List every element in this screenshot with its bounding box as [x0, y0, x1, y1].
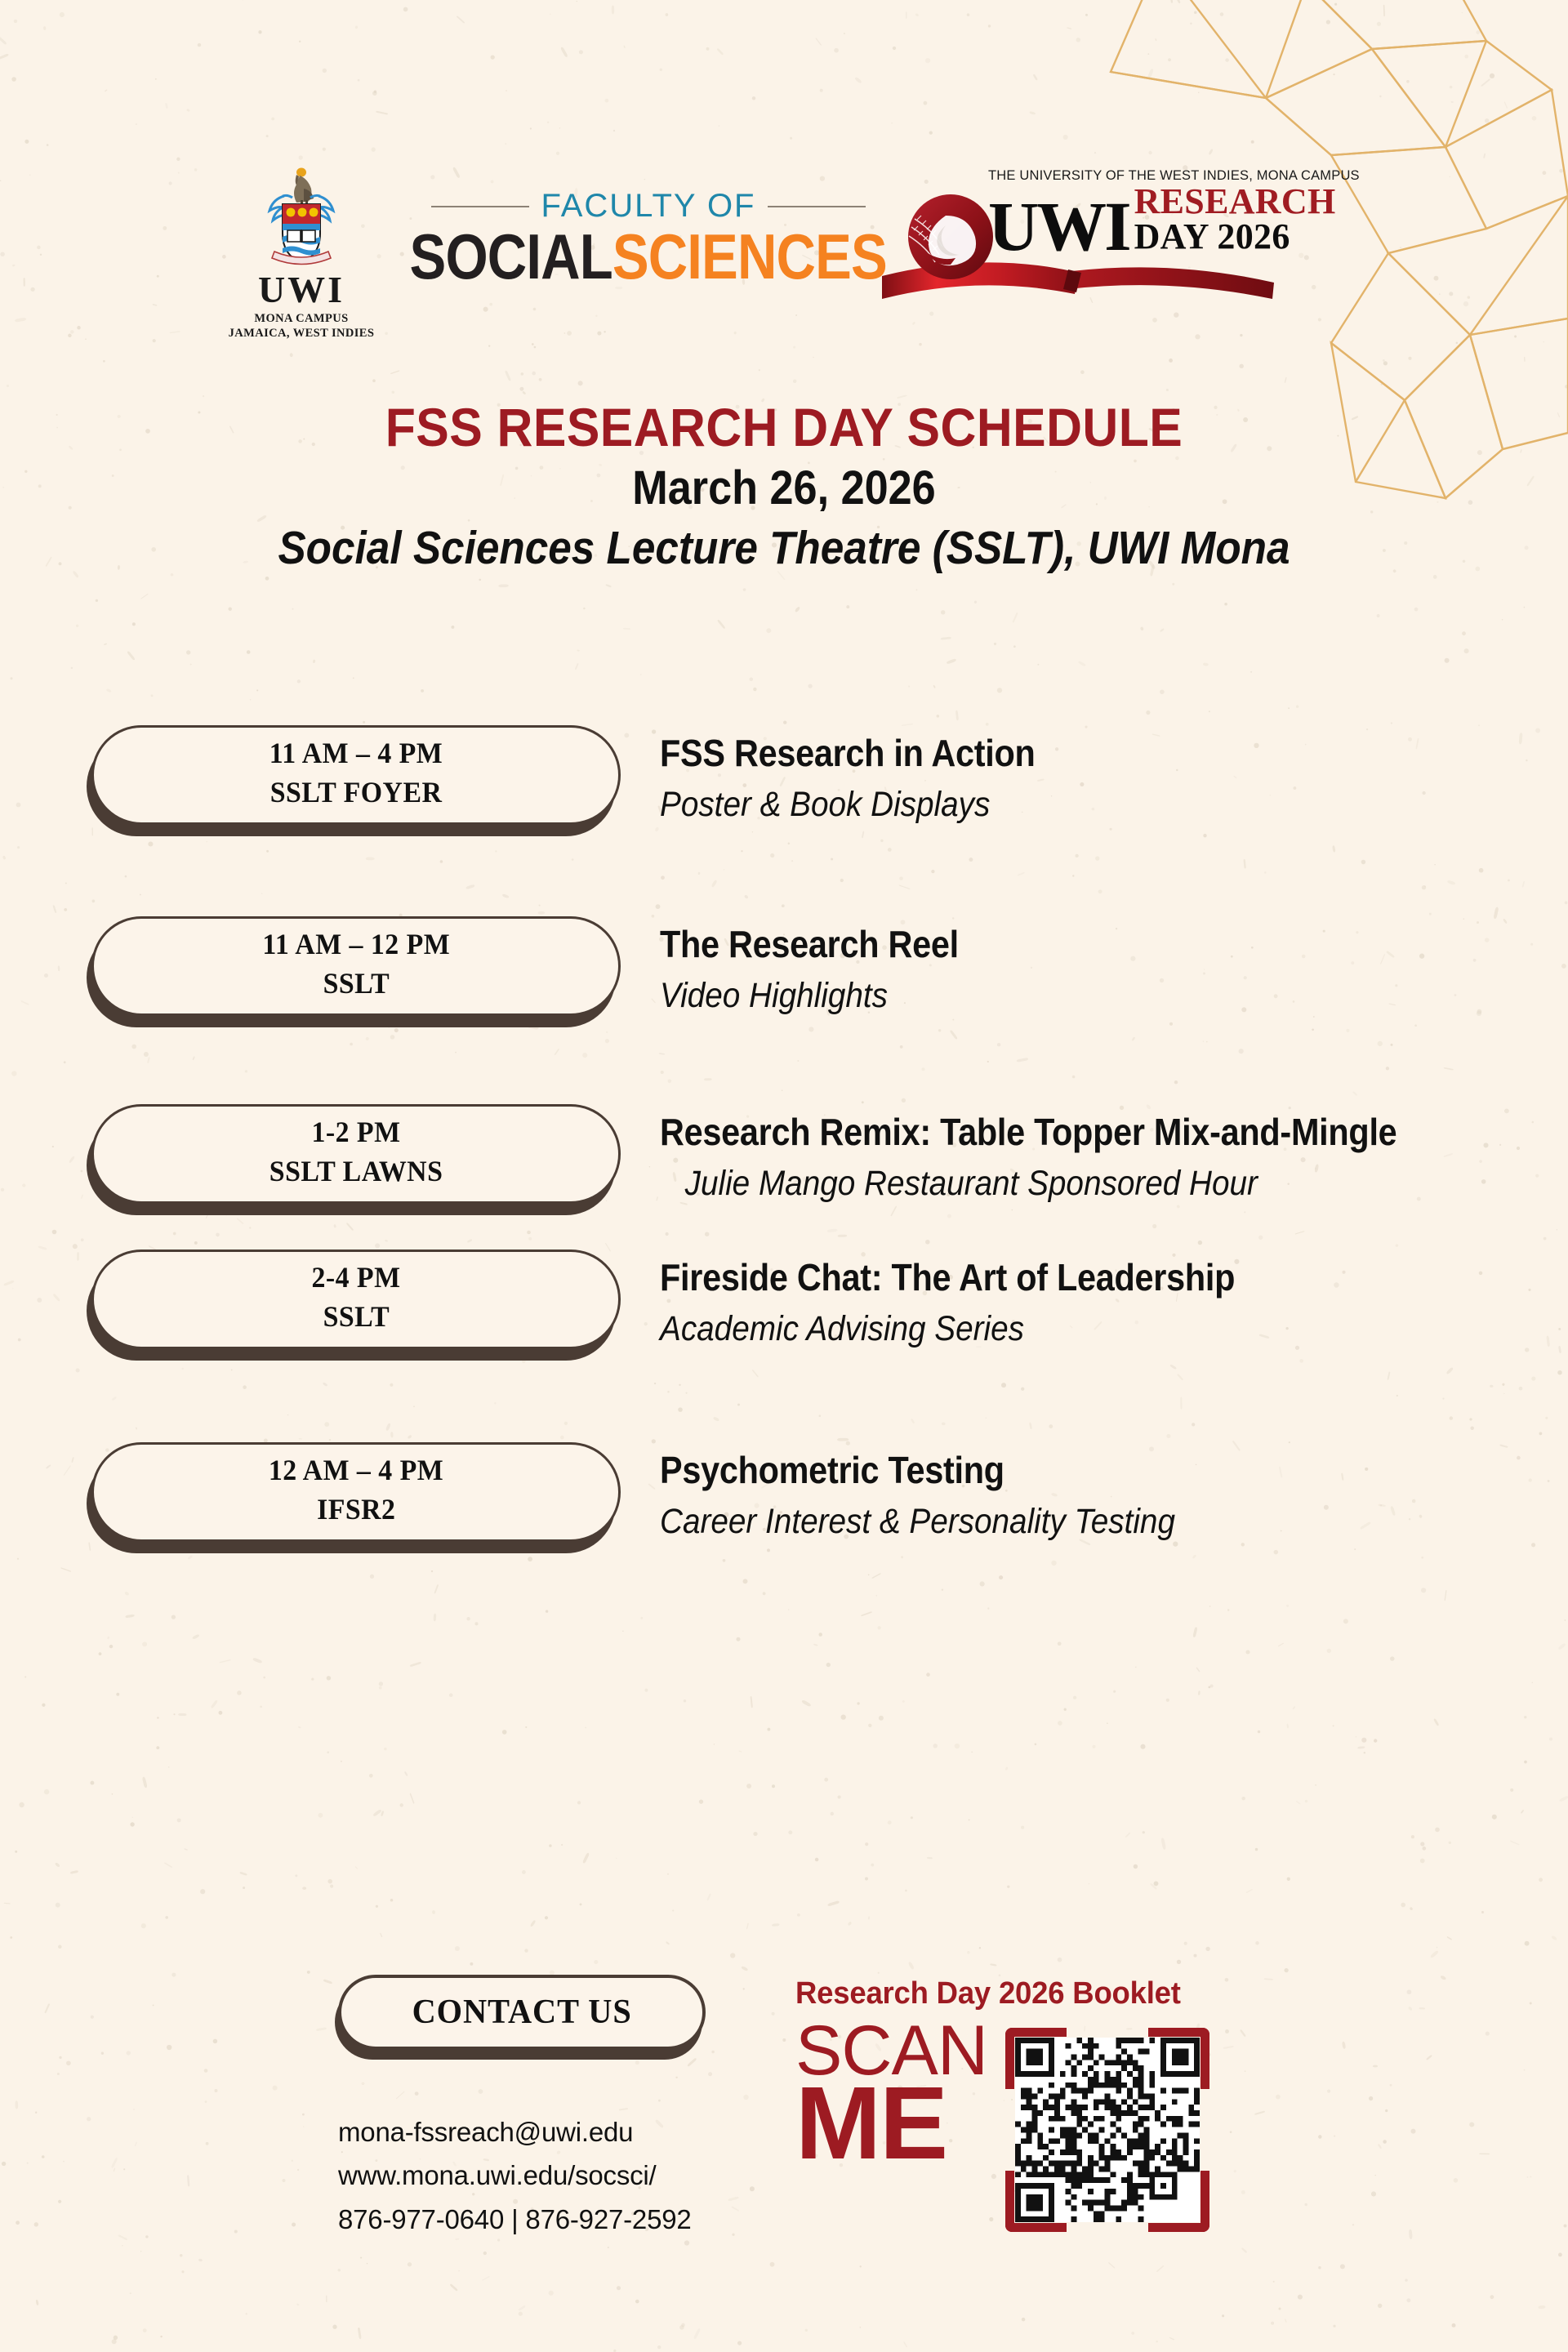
time-location-pill[interactable]: 11 AM – 4 PM SSLT FOYER [91, 725, 621, 825]
row-text-block: Psychometric Testing Career Interest & P… [630, 1442, 1509, 1545]
row-title: Psychometric Testing [660, 1447, 1424, 1493]
schedule-row: 1-2 PM SSLT LAWNS Research Remix: Table … [0, 1104, 1568, 1207]
schedule-row: 12 AM – 4 PM IFSR2 Psychometric Testing … [0, 1442, 1568, 1545]
fss-rule-right [768, 206, 866, 207]
row-location: SSLT LAWNS [269, 1152, 443, 1192]
uwi-wordmark: UWI [258, 271, 345, 309]
row-text-block: FSS Research in Action Poster & Book Dis… [630, 725, 1509, 828]
schedule-list: 11 AM – 4 PM SSLT FOYER FSS Research in … [0, 725, 1568, 1545]
title-block: FSS RESEARCH DAY SCHEDULE March 26, 2026… [0, 399, 1568, 576]
schedule-row: 2-4 PM SSLT Fireside Chat: The Art of Le… [0, 1249, 1568, 1352]
row-subtitle: Career Interest & Personality Testing [660, 1499, 1424, 1545]
uwi-campus-line1: MONA CAMPUS [229, 312, 375, 327]
rd-day-year: DAY 2026 [1134, 216, 1290, 256]
qr-code-icon[interactable] [1015, 2038, 1200, 2222]
row-title: FSS Research in Action [660, 730, 1424, 776]
uwi-crest-icon [250, 165, 353, 273]
fss-faculty-label: FACULTY OF [541, 188, 755, 225]
row-location: SSLT [323, 964, 390, 1004]
uwi-crest-logo: UWI MONA CAMPUS JAMAICA, WEST INDIES [207, 165, 395, 341]
row-text-block: Fireside Chat: The Art of Leadership Aca… [630, 1249, 1509, 1352]
logo-bar: UWI MONA CAMPUS JAMAICA, WEST INDIES FAC… [0, 160, 1568, 323]
time-location-pill-wrap: 11 AM – 12 PM SSLT [91, 916, 630, 1016]
me-word: ME [795, 2082, 987, 2165]
event-venue: Social Sciences Lecture Theatre (SSLT), … [78, 520, 1490, 576]
schedule-row: 11 AM – 12 PM SSLT The Research Reel Vid… [0, 916, 1568, 1019]
faculty-of-social-sciences-logo: FACULTY OF SOCIALSCIENCES [420, 188, 877, 287]
time-location-pill-wrap: 11 AM – 4 PM SSLT FOYER [91, 725, 630, 825]
row-time: 2-4 PM [311, 1258, 400, 1298]
qr-code-frame[interactable] [1005, 2028, 1209, 2232]
event-date: March 26, 2026 [78, 460, 1490, 517]
scan-me-text: SCAN ME [795, 2023, 987, 2165]
uwi-campus-line2: JAMAICA, WEST INDIES [229, 327, 375, 341]
time-location-pill[interactable]: 11 AM – 12 PM SSLT [91, 916, 621, 1016]
row-text-block: The Research Reel Video Highlights [630, 916, 1509, 1019]
contact-us-button[interactable]: CONTACT US [338, 1975, 706, 2050]
fss-wordmark: SOCIALSCIENCES [410, 226, 887, 287]
row-title: Research Remix: Table Topper Mix-and-Min… [660, 1109, 1424, 1155]
uwi-research-day-logo: THE UNIVERSITY OF THE WEST INDIES, MONA … [903, 168, 1361, 308]
contact-details: mona-fssreach@uwi.edu www.mona.uwi.edu/s… [338, 2110, 755, 2241]
row-location: SSLT [323, 1298, 390, 1337]
row-subtitle: Academic Advising Series [660, 1307, 1424, 1352]
row-text-block: Research Remix: Table Topper Mix-and-Min… [630, 1104, 1509, 1207]
fss-social-word: SOCIAL [410, 220, 612, 292]
uwi-campus-text: MONA CAMPUS JAMAICA, WEST INDIES [229, 312, 375, 341]
booklet-label: Research Day 2026 Booklet [795, 1976, 1193, 2011]
scan-column: Research Day 2026 Booklet SCAN ME [795, 1975, 1209, 2232]
row-title: The Research Reel [660, 921, 1424, 967]
time-location-pill[interactable]: 2-4 PM SSLT [91, 1249, 621, 1349]
time-location-pill-wrap: 2-4 PM SSLT [91, 1249, 630, 1349]
contact-website[interactable]: www.mona.uwi.edu/socsci/ [338, 2154, 755, 2197]
page-title: FSS RESEARCH DAY SCHEDULE [63, 399, 1505, 457]
row-time: 11 AM – 4 PM [269, 734, 443, 773]
time-location-pill[interactable]: 1-2 PM SSLT LAWNS [91, 1104, 621, 1204]
row-title: Fireside Chat: The Art of Leadership [660, 1254, 1424, 1300]
rd-uwi-wordmark: UWI [988, 198, 1129, 255]
time-location-pill-wrap: 12 AM – 4 PM IFSR2 [91, 1442, 630, 1542]
time-location-pill[interactable]: 12 AM – 4 PM IFSR2 [91, 1442, 621, 1542]
row-location: IFSR2 [317, 1490, 395, 1530]
fss-sciences-word: SCIENCES [612, 220, 887, 292]
row-time: 12 AM – 4 PM [269, 1451, 443, 1490]
rd-research-word: RESEARCH [1134, 181, 1336, 221]
fss-rule-left [431, 206, 529, 207]
row-subtitle: Video Highlights [660, 973, 1424, 1019]
row-time: 1-2 PM [311, 1113, 400, 1152]
contact-column: CONTACT US mona-fssreach@uwi.edu www.mon… [330, 1975, 755, 2241]
row-subtitle: Julie Mango Restaurant Sponsored Hour [660, 1161, 1424, 1207]
row-location: SSLT FOYER [270, 773, 443, 813]
time-location-pill-wrap: 1-2 PM SSLT LAWNS [91, 1104, 630, 1204]
row-time: 11 AM – 12 PM [262, 925, 450, 964]
contact-email[interactable]: mona-fssreach@uwi.edu [338, 2110, 755, 2154]
schedule-row: 11 AM – 4 PM SSLT FOYER FSS Research in … [0, 725, 1568, 828]
footer: CONTACT US mona-fssreach@uwi.edu www.mon… [0, 1975, 1568, 2241]
contact-us-label: CONTACT US [412, 1993, 631, 2032]
cricket-ball-icon [903, 189, 998, 284]
row-subtitle: Poster & Book Displays [660, 782, 1424, 828]
contact-phones[interactable]: 876-977-0640 | 876-927-2592 [338, 2198, 755, 2241]
